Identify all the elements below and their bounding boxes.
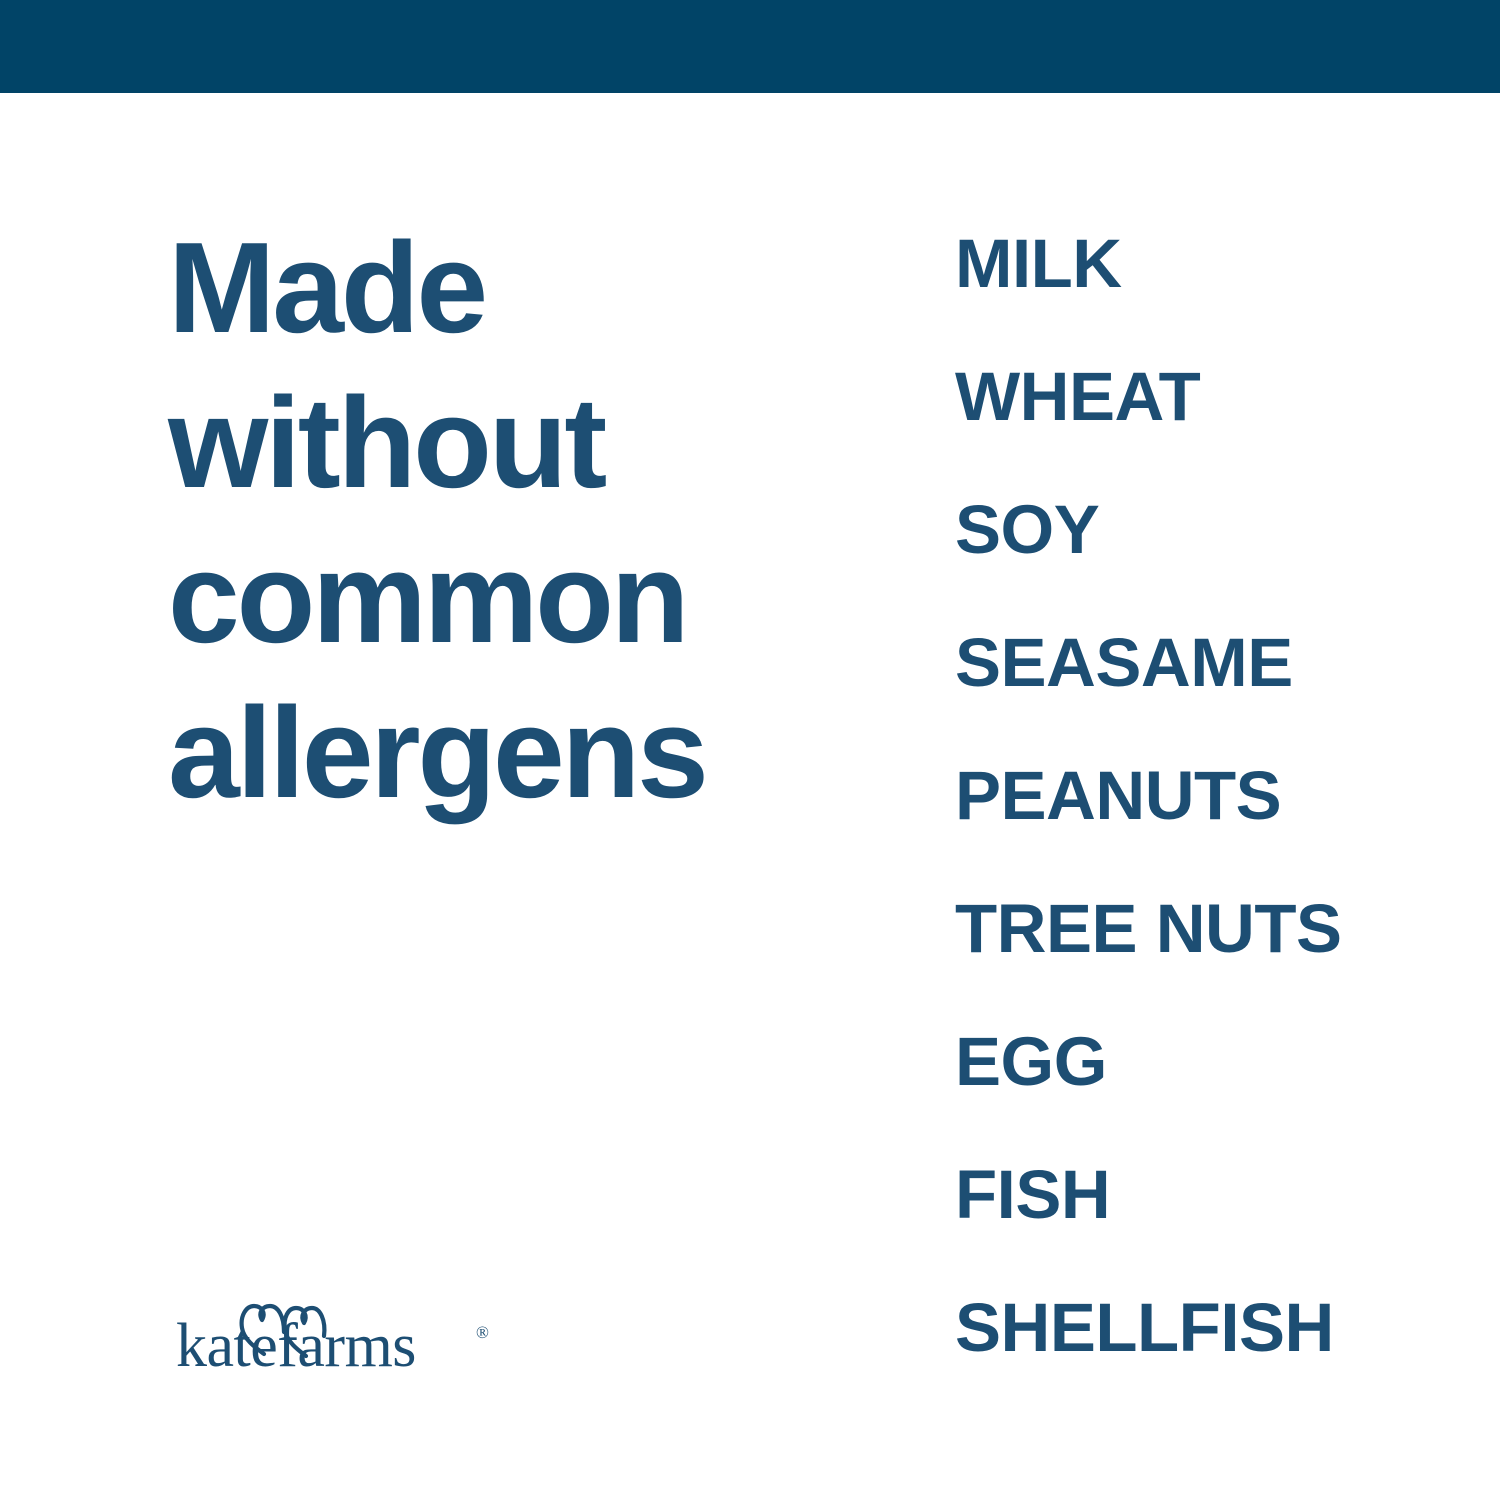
list-item: SEASAME xyxy=(955,596,1425,729)
list-item: WHEAT xyxy=(955,330,1425,463)
headline-line-2: without xyxy=(168,366,868,521)
list-item: SHELLFISH xyxy=(955,1261,1425,1394)
allergen-info-poster: Made without common allergens katefarms xyxy=(0,0,1500,1500)
list-item: PEANUTS xyxy=(955,729,1425,862)
headline-line-1: Made xyxy=(168,211,868,366)
list-item: TREE NUTS xyxy=(955,862,1425,995)
brand-logo: katefarms ® xyxy=(176,1286,506,1378)
list-item: FISH xyxy=(955,1128,1425,1261)
list-item: SOY xyxy=(955,463,1425,596)
top-navy-band xyxy=(0,0,1500,93)
page-title: Made without common allergens xyxy=(168,211,868,831)
right-column: MILK WHEAT SOY SEASAME PEANUTS TREE NUTS… xyxy=(955,93,1425,1500)
allergen-list: MILK WHEAT SOY SEASAME PEANUTS TREE NUTS… xyxy=(955,197,1425,1394)
katefarms-logo-icon: katefarms ® xyxy=(176,1286,506,1378)
headline-line-3: common xyxy=(168,521,868,676)
headline-line-4: allergens xyxy=(168,676,868,831)
svg-text:katefarms: katefarms xyxy=(176,1312,416,1378)
left-column: Made without common allergens katefarms xyxy=(168,93,868,1500)
svg-text:®: ® xyxy=(476,1323,489,1342)
poster-content: Made without common allergens katefarms xyxy=(0,93,1500,1500)
list-item: EGG xyxy=(955,995,1425,1128)
list-item: MILK xyxy=(955,197,1425,330)
